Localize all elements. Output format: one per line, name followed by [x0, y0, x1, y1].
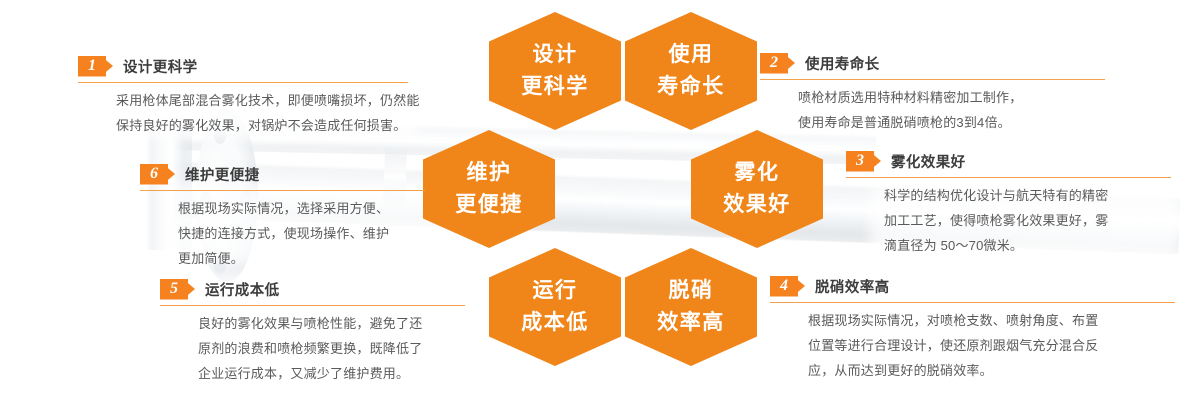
feature-3-desc-line: 科学的结构优化设计与航天特有的精密 — [884, 184, 1186, 209]
feature-1-divider — [78, 82, 408, 83]
number-badge-icon: 6 — [140, 164, 175, 185]
feature-6-desc-line: 更加简便。 — [178, 247, 440, 272]
number-badge-icon: 5 — [160, 279, 195, 300]
feature-4-desc-line: 根据现场实际情况，对喷枪支数、喷射角度、布置 — [808, 309, 1190, 334]
hexagon-denitration-line1: 脱硝 — [669, 275, 714, 307]
feature-1-desc-line: 采用枪体尾部混合雾化技术，即便喷嘴损坏，仍然能 — [116, 89, 428, 114]
feature-6-divider — [140, 190, 425, 191]
number-badge-icon: 1 — [78, 56, 113, 77]
feature-3-desc-line: 滴直径为 50～70微米。 — [884, 234, 1186, 259]
feature-2-divider — [760, 79, 1105, 80]
feature-1-desc-line: 保持良好的雾化效果，对锅炉不会造成任何损害。 — [116, 114, 428, 139]
feature-4-header: 4 脱硝效率高 — [770, 275, 1190, 297]
feature-3-header: 3 雾化效果好 — [846, 150, 1186, 172]
number-badge-icon: 3 — [846, 151, 881, 172]
feature-3-title: 雾化效果好 — [891, 151, 966, 172]
feature-4-description: 根据现场实际情况，对喷枪支数、喷射角度、布置 位置等进行合理设计，使还原剂跟烟气… — [770, 309, 1190, 384]
feature-6-description: 根据现场实际情况，选择采用方便、 快捷的连接方式，使现场操作、维护 更加简便。 — [140, 197, 440, 272]
feature-4-title: 脱硝效率高 — [815, 276, 890, 297]
hexagon-lifespan-line1: 使用 — [669, 39, 714, 71]
feature-5-description: 良好的雾化效果与喷枪性能，避免了还 原剂的浪费和喷枪频繁更换，既降低了 企业运行… — [160, 312, 480, 387]
feature-6-number: 6 — [140, 164, 168, 185]
feature-1-header: 1 设计更科学 — [78, 55, 428, 77]
feature-4-number: 4 — [770, 276, 798, 297]
feature-5-desc-line: 原剂的浪费和喷枪频繁更换，既降低了 — [198, 337, 480, 362]
hexagon-atomization-line1: 雾化 — [735, 157, 780, 189]
hexagon-design-line1: 设计 — [533, 39, 578, 71]
hexagon-maintenance-line1: 维护 — [467, 157, 512, 189]
feature-item-1: 1 设计更科学 采用枪体尾部混合雾化技术，即便喷嘴损坏，仍然能 保持良好的雾化效… — [78, 55, 428, 139]
feature-3-description: 科学的结构优化设计与航天特有的精密 加工工艺，使得喷枪雾化效果更好，雾 滴直径为… — [846, 184, 1186, 259]
feature-3-desc-line: 加工工艺，使得喷枪雾化效果更好，雾 — [884, 209, 1186, 234]
feature-6-desc-line: 快捷的连接方式，使现场操作、维护 — [178, 222, 440, 247]
hexagon-lifespan[interactable]: 使用 寿命长 — [625, 12, 757, 130]
hexagon-cost-line1: 运行 — [533, 275, 578, 307]
feature-item-2: 2 使用寿命长 喷枪材质选用特种材料精密加工制作， 使用寿命是普通脱硝喷枪的3到… — [760, 52, 1120, 136]
feature-item-6: 6 维护更便捷 根据现场实际情况，选择采用方便、 快捷的连接方式，使现场操作、维… — [140, 163, 440, 272]
number-badge-icon: 2 — [760, 53, 795, 74]
infographic-canvas: 设计 更科学 使用 寿命长 维护 更便捷 雾化 效果好 运行 成本低 脱硝 效率… — [0, 0, 1197, 413]
feature-6-desc-line: 根据现场实际情况，选择采用方便、 — [178, 197, 440, 222]
feature-item-3: 3 雾化效果好 科学的结构优化设计与航天特有的精密 加工工艺，使得喷枪雾化效果更… — [846, 150, 1186, 259]
feature-4-desc-line: 应，从而达到更好的脱硝效率。 — [808, 359, 1190, 384]
hexagon-maintenance-line2: 更便捷 — [455, 189, 523, 221]
feature-2-desc-line: 使用寿命是普通脱硝喷枪的3到4倍。 — [798, 111, 1120, 136]
feature-2-header: 2 使用寿命长 — [760, 52, 1120, 74]
hexagon-design[interactable]: 设计 更科学 — [489, 12, 621, 130]
feature-5-number: 5 — [160, 279, 188, 300]
feature-5-desc-line: 良好的雾化效果与喷枪性能，避免了还 — [198, 312, 480, 337]
feature-2-number: 2 — [760, 53, 788, 74]
feature-1-number: 1 — [78, 56, 106, 77]
feature-3-divider — [846, 177, 1171, 178]
feature-5-divider — [160, 305, 465, 306]
feature-4-divider — [770, 302, 1175, 303]
feature-item-5: 5 运行成本低 良好的雾化效果与喷枪性能，避免了还 原剂的浪费和喷枪频繁更换，既… — [160, 278, 480, 387]
hexagon-atomization[interactable]: 雾化 效果好 — [691, 130, 823, 248]
feature-1-title: 设计更科学 — [123, 56, 198, 77]
feature-6-header: 6 维护更便捷 — [140, 163, 440, 185]
feature-1-description: 采用枪体尾部混合雾化技术，即便喷嘴损坏，仍然能 保持良好的雾化效果，对锅炉不会造… — [78, 89, 428, 139]
feature-item-4: 4 脱硝效率高 根据现场实际情况，对喷枪支数、喷射角度、布置 位置等进行合理设计… — [770, 275, 1190, 384]
hexagon-design-line2: 更科学 — [521, 71, 589, 103]
feature-2-desc-line: 喷枪材质选用特种材料精密加工制作， — [798, 86, 1120, 111]
feature-6-title: 维护更便捷 — [185, 164, 260, 185]
feature-2-title: 使用寿命长 — [805, 53, 880, 74]
feature-5-title: 运行成本低 — [205, 279, 280, 300]
feature-3-number: 3 — [846, 151, 874, 172]
hexagon-cost[interactable]: 运行 成本低 — [489, 248, 621, 366]
hexagon-maintenance[interactable]: 维护 更便捷 — [423, 130, 555, 248]
hexagon-cost-line2: 成本低 — [521, 307, 589, 339]
feature-5-desc-line: 企业运行成本，又减少了维护费用。 — [198, 362, 480, 387]
number-badge-icon: 4 — [770, 276, 805, 297]
hexagon-atomization-line2: 效果好 — [723, 189, 791, 221]
feature-4-desc-line: 位置等进行合理设计，使还原剂跟烟气充分混合反 — [808, 334, 1190, 359]
hexagon-denitration-line2: 效率高 — [657, 307, 725, 339]
feature-5-header: 5 运行成本低 — [160, 278, 480, 300]
feature-2-description: 喷枪材质选用特种材料精密加工制作， 使用寿命是普通脱硝喷枪的3到4倍。 — [760, 86, 1120, 136]
hexagon-lifespan-line2: 寿命长 — [657, 71, 725, 103]
hexagon-denitration[interactable]: 脱硝 效率高 — [625, 248, 757, 366]
